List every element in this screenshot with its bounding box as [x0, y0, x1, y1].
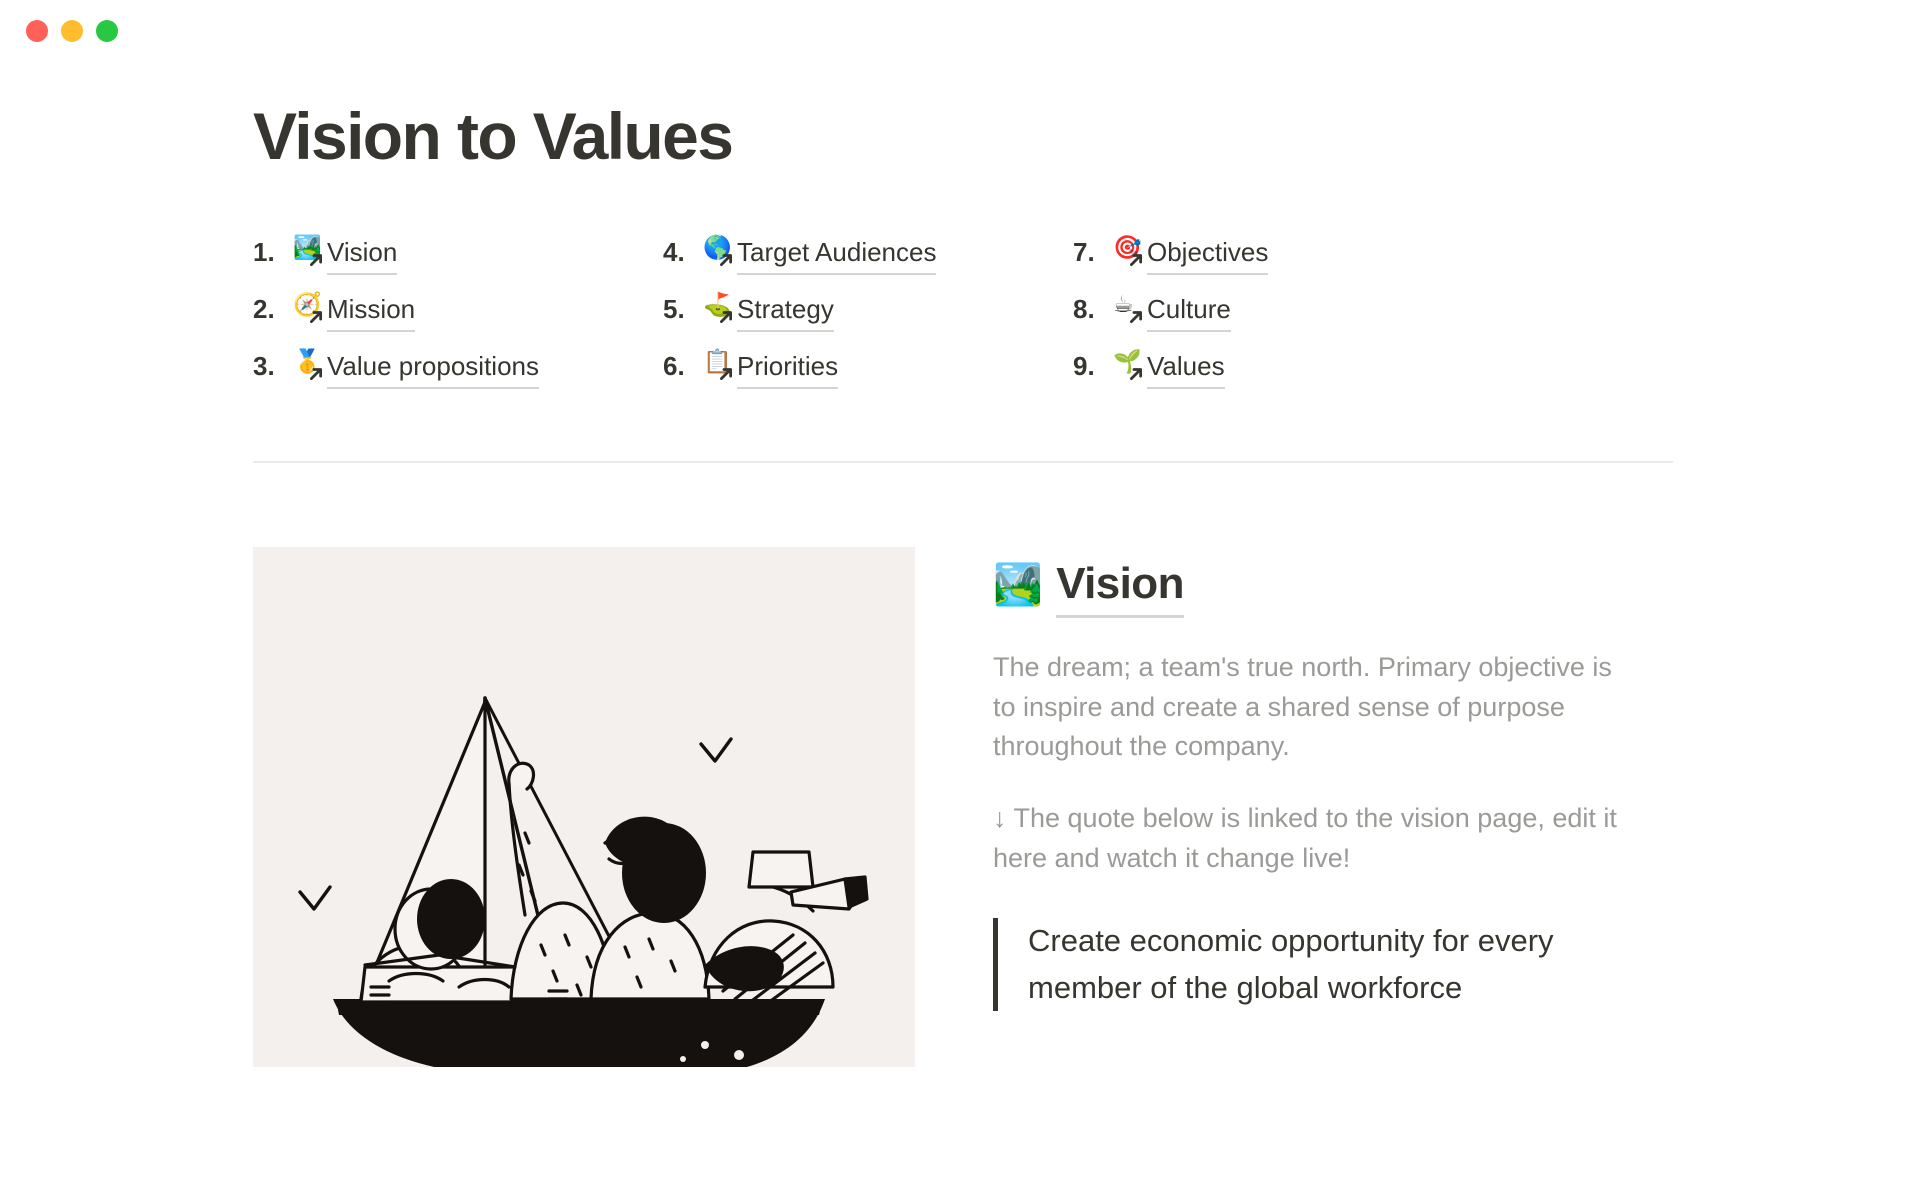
toc-item: 3.🥇Value propositions — [253, 349, 663, 389]
compass-icon-glyph: 🧭 — [293, 292, 322, 318]
document-canvas: Vision to Values 1.🏞️Vision2.🧭Mission3.🥇… — [0, 62, 1920, 1200]
toc-item: 8.☕Culture — [1073, 292, 1473, 332]
target-icon: 🎯 — [1113, 235, 1147, 261]
toc-link-target-audiences[interactable]: 🌎Target Audiences — [703, 235, 936, 275]
toc-item-label: Values — [1147, 349, 1225, 389]
toc-link-culture[interactable]: ☕Culture — [1113, 292, 1231, 332]
vision-section: 🏞️ Vision The dream; a team's true north… — [253, 547, 1673, 1067]
globe-icon: 🌎 — [703, 235, 737, 261]
golf-flag-icon-glyph: ⛳ — [703, 292, 732, 318]
toc-link-objectives[interactable]: 🎯Objectives — [1113, 235, 1268, 275]
toc-item-label: Objectives — [1147, 235, 1268, 275]
globe-icon-glyph: 🌎 — [703, 235, 732, 261]
mountain-icon-glyph: 🏞️ — [293, 235, 322, 261]
compass-icon: 🧭 — [293, 292, 327, 318]
toc-item-number: 6. — [663, 349, 703, 384]
toc-column-3: 7.🎯Objectives8.☕Culture9.🌱Values — [1073, 235, 1473, 389]
toc-item-label: Culture — [1147, 292, 1231, 332]
toc-column-1: 1.🏞️Vision2.🧭Mission3.🥇Value proposition… — [253, 235, 663, 389]
sailboat-crew-illustration — [253, 547, 915, 1067]
toc-item-label: Strategy — [737, 292, 834, 332]
golf-flag-icon: ⛳ — [703, 292, 737, 318]
toc-column-2: 4.🌎Target Audiences5.⛳Strategy6.📋Priorit… — [663, 235, 1073, 389]
vision-quote[interactable]: Create economic opportunity for every me… — [993, 918, 1633, 1011]
mountain-icon: 🏞️ — [993, 565, 1042, 605]
coffee-icon-glyph: ☕ — [1113, 292, 1134, 318]
toc-item: 6.📋Priorities — [663, 349, 1073, 389]
page-title: Vision to Values — [253, 62, 1673, 173]
toc-item-label: Target Audiences — [737, 235, 936, 275]
clipboard-icon: 📋 — [703, 349, 737, 375]
toc-item-number: 7. — [1073, 235, 1113, 270]
toc-link-mission[interactable]: 🧭Mission — [293, 292, 415, 332]
toc-link-value-propositions[interactable]: 🥇Value propositions — [293, 349, 539, 389]
vision-description: The dream; a team's true north. Primary … — [993, 648, 1633, 767]
vision-heading: 🏞️ Vision — [993, 559, 1633, 618]
mountain-icon: 🏞️ — [293, 235, 327, 261]
vision-quote-note: ↓ The quote below is linked to the visio… — [993, 799, 1633, 878]
seedling-icon-glyph: 🌱 — [1113, 349, 1142, 375]
toc-item-label: Priorities — [737, 349, 838, 389]
toc-item-number: 5. — [663, 292, 703, 327]
window-title-bar — [0, 0, 1920, 62]
coffee-icon: ☕ — [1113, 292, 1147, 318]
toc-item: 5.⛳Strategy — [663, 292, 1073, 332]
medal-icon-glyph: 🥇 — [293, 349, 322, 375]
maximize-window-button[interactable] — [96, 20, 118, 42]
toc-link-priorities[interactable]: 📋Priorities — [703, 349, 838, 389]
toc-item: 4.🌎Target Audiences — [663, 235, 1073, 275]
toc-link-vision[interactable]: 🏞️Vision — [293, 235, 397, 275]
vision-detail: 🏞️ Vision The dream; a team's true north… — [993, 547, 1633, 1067]
seedling-icon: 🌱 — [1113, 349, 1147, 375]
target-icon-glyph: 🎯 — [1113, 235, 1142, 261]
toc-item: 2.🧭Mission — [253, 292, 663, 332]
toc-link-strategy[interactable]: ⛳Strategy — [703, 292, 834, 332]
toc-item: 9.🌱Values — [1073, 349, 1473, 389]
table-of-contents: 1.🏞️Vision2.🧭Mission3.🥇Value proposition… — [253, 235, 1673, 389]
medal-icon: 🥇 — [293, 349, 327, 375]
vision-heading-text: Vision — [1056, 559, 1184, 618]
toc-item-number: 3. — [253, 349, 293, 384]
toc-item-number: 4. — [663, 235, 703, 270]
toc-item-number: 8. — [1073, 292, 1113, 327]
toc-item: 1.🏞️Vision — [253, 235, 663, 275]
toc-item-label: Vision — [327, 235, 397, 275]
clipboard-icon-glyph: 📋 — [703, 349, 732, 375]
toc-item: 7.🎯Objectives — [1073, 235, 1473, 275]
toc-item-label: Mission — [327, 292, 415, 332]
toc-item-number: 9. — [1073, 349, 1113, 384]
section-divider — [253, 461, 1673, 463]
toc-link-values[interactable]: 🌱Values — [1113, 349, 1225, 389]
close-window-button[interactable] — [26, 20, 48, 42]
toc-item-number: 2. — [253, 292, 293, 327]
document-content: Vision to Values 1.🏞️Vision2.🧭Mission3.🥇… — [253, 62, 1673, 1067]
traffic-light-group — [26, 20, 118, 42]
toc-item-label: Value propositions — [327, 349, 539, 389]
toc-item-number: 1. — [253, 235, 293, 270]
minimize-window-button[interactable] — [61, 20, 83, 42]
